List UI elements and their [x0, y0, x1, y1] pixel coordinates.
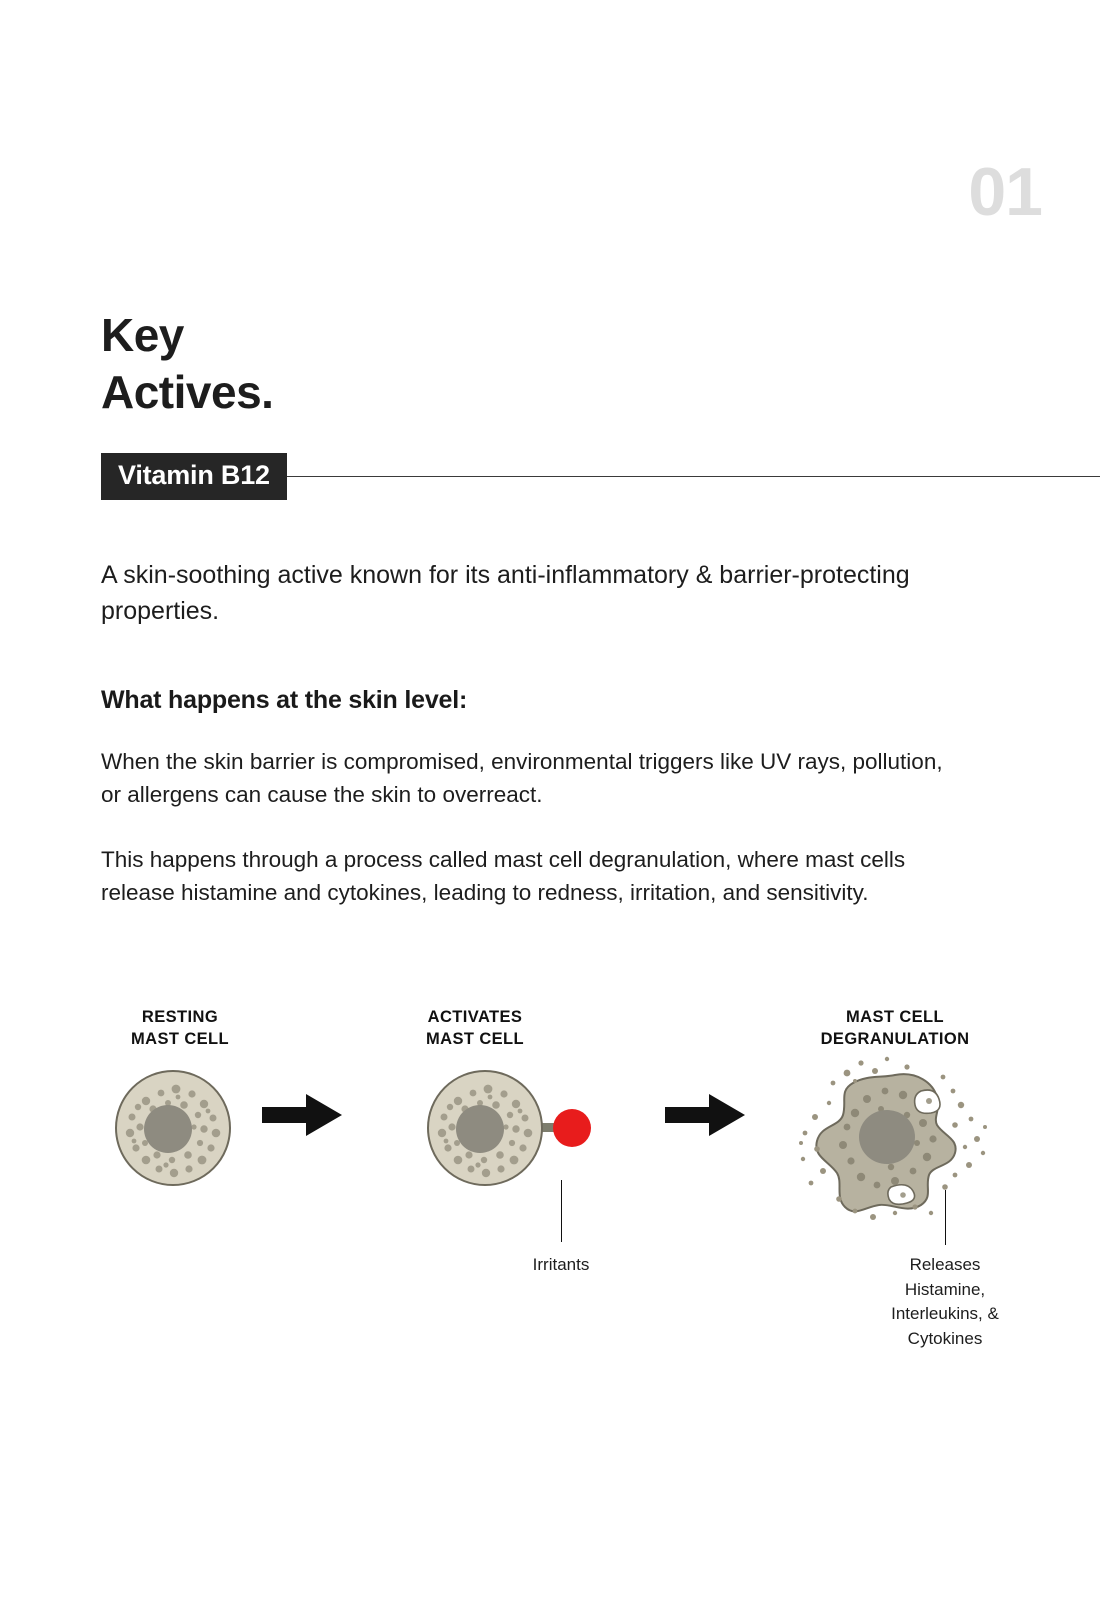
section-paragraph-1: When the skin barrier is compromised, en…: [101, 745, 961, 812]
leader-line: [561, 1180, 562, 1242]
flow-arrow-icon: [262, 1090, 342, 1145]
header-divider: [287, 476, 1100, 477]
page-title: Key Actives.: [101, 307, 273, 421]
caption-releases: Releases Histamine, Interleukins, & Cyto…: [845, 1253, 1045, 1352]
flow-arrow-icon: [665, 1090, 745, 1145]
diagram-stage-label-degranulation: MAST CELL DEGRANULATION: [765, 1007, 1025, 1051]
status-badge: Vitamin B12: [101, 453, 287, 500]
leader-line: [945, 1190, 946, 1245]
diagram-stage-label-resting: RESTING MAST CELL: [60, 1007, 300, 1051]
irritant-marker: [553, 1109, 591, 1147]
section-subheading: What happens at the skin level:: [101, 686, 467, 715]
activated-mast-cell-icon: [420, 1063, 600, 1198]
section-paragraph-2: This happens through a process called ma…: [101, 843, 961, 910]
page-number: 01: [968, 158, 1042, 226]
section-header: Vitamin B12: [101, 452, 1100, 500]
degranulating-mast-cell-icon: [795, 1047, 995, 1232]
caption-irritants: Irritants: [461, 1253, 661, 1278]
diagram-stage-label-activates: ACTIVATES MAST CELL: [355, 1007, 595, 1051]
section-lead-text: A skin-soothing active known for its ant…: [101, 558, 1001, 629]
resting-mast-cell-icon: [108, 1063, 238, 1198]
